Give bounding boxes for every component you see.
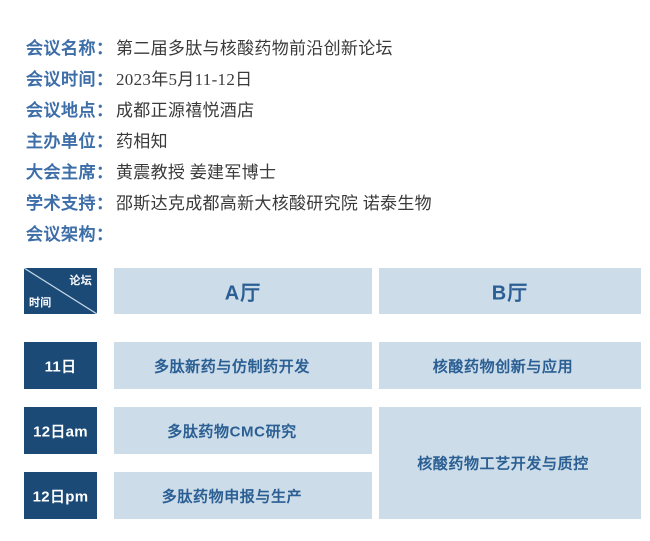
- info-colon: ：: [96, 96, 113, 121]
- info-value-organizer: 药相知: [116, 127, 168, 152]
- session-title: 多肽新药与仿制药开发: [114, 355, 372, 376]
- info-row-organizer: 主办单位 ： 药相知: [26, 127, 626, 158]
- corner-label-forum: 论坛: [69, 272, 92, 288]
- info-row-academic-support: 学术支持 ： 邵斯达克成都高新大核酸研究院 诺泰生物: [26, 189, 626, 220]
- table-header-hall-a: A厅: [114, 268, 372, 314]
- session-cell-hall-a-row-2: 多肽药物CMC研究: [114, 407, 372, 454]
- table-row-time-12pm: 12日pm: [24, 472, 97, 519]
- table-corner-header-cell: 论坛 时间: [24, 268, 97, 314]
- table-row-time-11: 11日: [24, 342, 97, 389]
- time-label: 12日am: [24, 420, 97, 441]
- info-value-academic-support: 邵斯达克成都高新大核酸研究院 诺泰生物: [116, 189, 432, 214]
- corner-label-time: 时间: [29, 294, 52, 310]
- table-row-time-12am: 12日am: [24, 407, 97, 454]
- session-title: 多肽药物CMC研究: [114, 420, 372, 441]
- time-label: 11日: [24, 355, 97, 376]
- session-cell-hall-a-row-3: 多肽药物申报与生产: [114, 472, 372, 519]
- info-value-chairman: 黄震教授 姜建军博士: [116, 158, 276, 183]
- hall-b-label: B厅: [379, 277, 641, 306]
- info-label-conference-name: 会议名称: [26, 34, 96, 59]
- info-label-academic-support: 学术支持: [26, 189, 96, 214]
- info-value-conference-name: 第二届多肽与核酸药物前沿创新论坛: [116, 34, 393, 59]
- info-row-conference-venue: 会议地点 ： 成都正源禧悦酒店: [26, 96, 626, 127]
- info-label-structure: 会议架构: [26, 220, 96, 245]
- conference-info-block: 会议名称 ： 第二届多肽与核酸药物前沿创新论坛 会议时间 ： 2023年5月11…: [26, 34, 626, 251]
- info-colon: ：: [96, 65, 113, 90]
- info-colon: ：: [96, 220, 113, 245]
- session-cell-hall-a-row-1: 多肽新药与仿制药开发: [114, 342, 372, 389]
- info-row-conference-time: 会议时间 ： 2023年5月11-12日: [26, 65, 626, 96]
- session-cell-hall-b-row-1: 核酸药物创新与应用: [379, 342, 641, 389]
- session-cell-hall-b-merged-rows-2-3: 核酸药物工艺开发与质控: [379, 407, 641, 519]
- info-row-chairman: 大会主席 ： 黄震教授 姜建军博士: [26, 158, 626, 189]
- info-value-conference-venue: 成都正源禧悦酒店: [116, 96, 254, 121]
- info-row-structure: 会议架构 ：: [26, 220, 626, 251]
- info-colon: ：: [96, 127, 113, 152]
- hall-a-label: A厅: [114, 277, 372, 306]
- info-colon: ：: [96, 158, 113, 183]
- info-colon: ：: [96, 189, 113, 214]
- session-title: 多肽药物申报与生产: [114, 485, 372, 506]
- info-row-conference-name: 会议名称 ： 第二届多肽与核酸药物前沿创新论坛: [26, 34, 626, 65]
- info-value-conference-time: 2023年5月11-12日: [116, 65, 252, 90]
- info-label-conference-venue: 会议地点: [26, 96, 96, 121]
- time-label: 12日pm: [24, 485, 97, 506]
- info-label-conference-time: 会议时间: [26, 65, 96, 90]
- session-title: 核酸药物工艺开发与质控: [379, 453, 641, 474]
- info-colon: ：: [96, 34, 113, 59]
- table-header-hall-b: B厅: [379, 268, 641, 314]
- info-label-organizer: 主办单位: [26, 127, 96, 152]
- info-label-chairman: 大会主席: [26, 158, 96, 183]
- session-title: 核酸药物创新与应用: [379, 355, 641, 376]
